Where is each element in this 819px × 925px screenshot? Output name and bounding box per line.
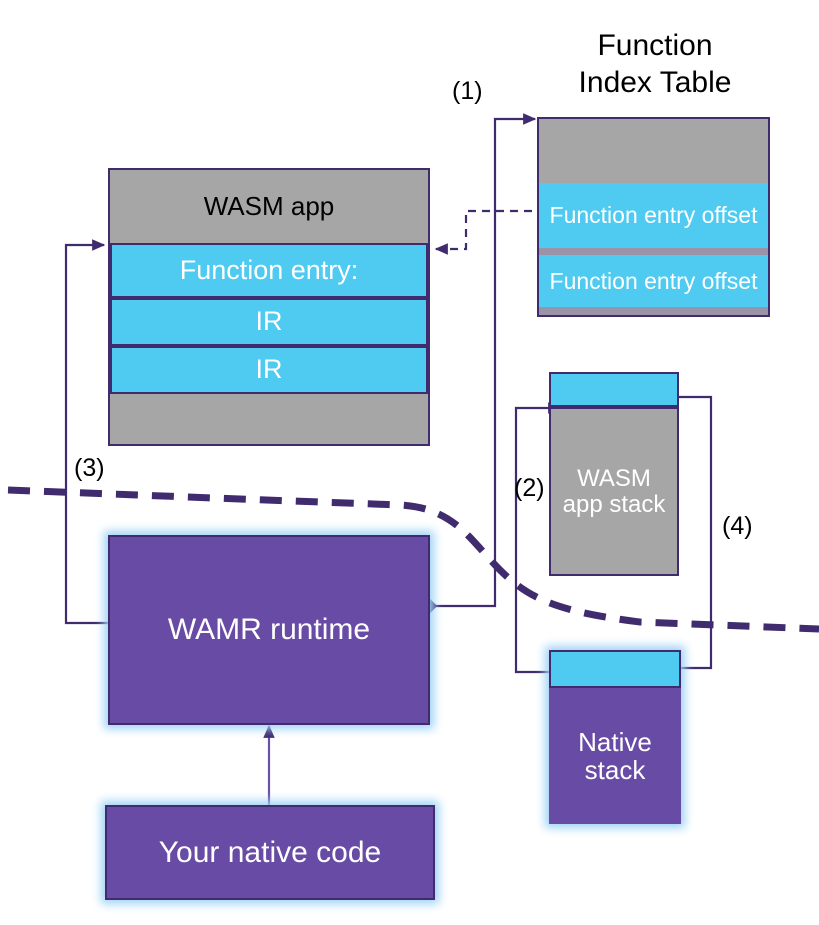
wasm-app-row-empty[interactable] (110, 394, 428, 444)
fit-row-label-1: Function entry offset (550, 203, 758, 228)
diagram-canvas: Function Index Table Function entry offs… (0, 0, 819, 925)
function-index-table-heading-line1: Function (505, 28, 805, 65)
native-stack-top-band[interactable] (549, 650, 681, 688)
step-label-2: (2) (514, 474, 545, 503)
arrow-path-1 (430, 119, 535, 606)
wasm-app-stack-top-band[interactable] (549, 372, 679, 407)
wasm-app-row-title[interactable]: WASM app (110, 170, 428, 243)
step-label-3: (3) (74, 454, 105, 483)
native-code-label: Your native code (159, 836, 381, 870)
fit-separator-1 (539, 248, 768, 255)
arrow-path-3 (66, 245, 108, 623)
fit-row-function-entry-offset-2[interactable]: Function entry offset (539, 255, 768, 307)
fit-row-empty[interactable] (539, 119, 768, 183)
function-index-table[interactable]: Function entry offset Function entry off… (537, 117, 770, 317)
native-stack-body[interactable]: Native stack (549, 688, 681, 824)
wasm-app-row-ir-1[interactable]: IR (110, 298, 428, 346)
wasm-app-block[interactable]: WASM app Function entry: IR IR (108, 168, 430, 446)
wasm-app-stack-label-line1: WASM (577, 466, 651, 492)
wasm-app-stack[interactable]: WASM app stack (549, 372, 679, 576)
function-index-table-heading-line2: Index Table (505, 65, 805, 102)
wasm-app-stack-label-line2: app stack (563, 492, 666, 518)
wasm-app-title-label: WASM app (204, 192, 335, 220)
native-stack-label-line2: stack (585, 756, 646, 784)
step-label-4: (4) (722, 512, 753, 541)
fit-row-label-2: Function entry offset (550, 269, 758, 294)
step-label-1: (1) (452, 77, 483, 106)
wamr-runtime-box[interactable]: WAMR runtime (108, 535, 430, 725)
wasm-app-row-ir-2[interactable]: IR (110, 346, 428, 394)
native-stack[interactable]: Native stack (549, 650, 681, 824)
fit-row-function-entry-offset-1[interactable]: Function entry offset (539, 183, 768, 248)
wasm-app-row-function-entry[interactable]: Function entry: (110, 243, 428, 298)
wamr-runtime-label: WAMR runtime (168, 613, 370, 647)
fit-separator-2 (539, 307, 768, 315)
wasm-app-ir-label-1: IR (256, 307, 283, 336)
wasm-app-function-entry-label: Function entry: (180, 256, 359, 285)
function-index-table-heading: Function Index Table (505, 28, 805, 101)
wasm-app-ir-label-2: IR (256, 355, 283, 384)
native-stack-label-line1: Native (578, 728, 652, 756)
wasm-app-stack-body[interactable]: WASM app stack (549, 407, 679, 576)
native-code-box[interactable]: Your native code (105, 805, 435, 900)
